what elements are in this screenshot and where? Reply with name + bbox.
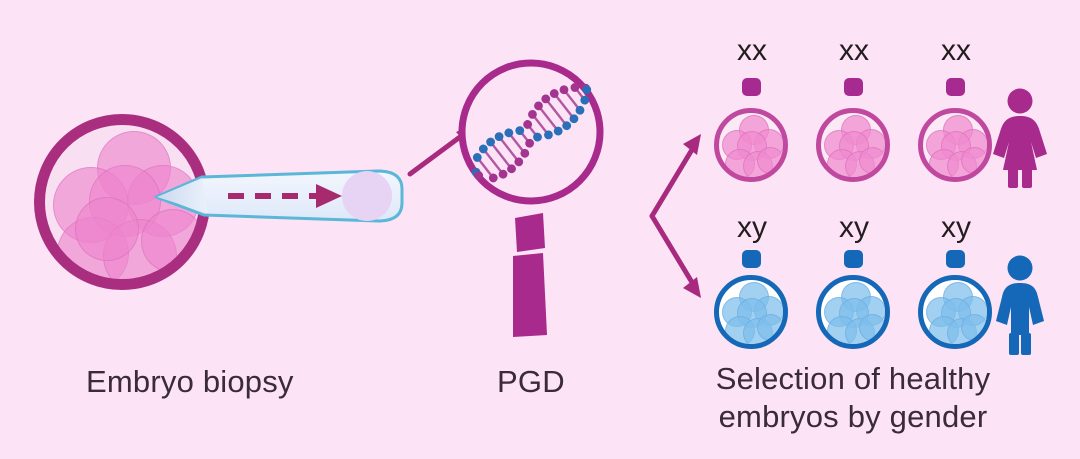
caption-selection-line1: Selection of healthy bbox=[683, 360, 1023, 398]
caption-pgd: PGD bbox=[497, 364, 565, 400]
genotype-label-xy-2: xy bbox=[824, 211, 884, 245]
magnifier-handle bbox=[513, 253, 547, 337]
embryo-cell bbox=[757, 147, 784, 174]
embryo-cell bbox=[859, 147, 886, 174]
marker-chip-xy-1 bbox=[742, 250, 761, 268]
magnifier-handle-collar bbox=[515, 213, 545, 252]
embryo-cell bbox=[859, 314, 886, 341]
marker-chip-xx-2 bbox=[844, 78, 863, 96]
female-embryo-3 bbox=[918, 108, 992, 182]
caption-selection-line2: embryos by gender bbox=[683, 398, 1023, 436]
marker-chip-xy-3 bbox=[946, 250, 965, 268]
male-embryo-2 bbox=[816, 275, 890, 349]
genotype-label-xy-1: xy bbox=[722, 211, 782, 245]
diagram-canvas: xx xx xx xy xy xy bbox=[0, 0, 1080, 459]
embryo-cell bbox=[75, 197, 139, 261]
genotype-label-xy-3: xy bbox=[926, 211, 986, 245]
magnifier-rim bbox=[462, 63, 600, 201]
magnifying-glass bbox=[455, 50, 615, 345]
male-embryo-1 bbox=[714, 275, 788, 349]
female-embryo-2 bbox=[816, 108, 890, 182]
caption-selection: Selection of healthy embryos by gender bbox=[683, 360, 1023, 436]
genotype-label-xx-3: xx bbox=[926, 34, 986, 68]
genotype-label-xx-1: xx bbox=[722, 34, 782, 68]
caption-embryo-biopsy: Embryo biopsy bbox=[86, 364, 294, 400]
genotype-label-xx-2: xx bbox=[824, 34, 884, 68]
female-embryo-1 bbox=[714, 108, 788, 182]
biopsy-pipette bbox=[150, 155, 410, 240]
marker-chip-xx-1 bbox=[742, 78, 761, 96]
marker-chip-xx-3 bbox=[946, 78, 965, 96]
female-figure-icon bbox=[984, 88, 1056, 188]
male-embryo-3 bbox=[918, 275, 992, 349]
branching-arrow-to-results bbox=[638, 126, 718, 306]
male-figure-icon bbox=[984, 255, 1056, 355]
aspirated-cell bbox=[342, 171, 392, 221]
embryo-cell bbox=[757, 314, 784, 341]
marker-chip-xy-2 bbox=[844, 250, 863, 268]
